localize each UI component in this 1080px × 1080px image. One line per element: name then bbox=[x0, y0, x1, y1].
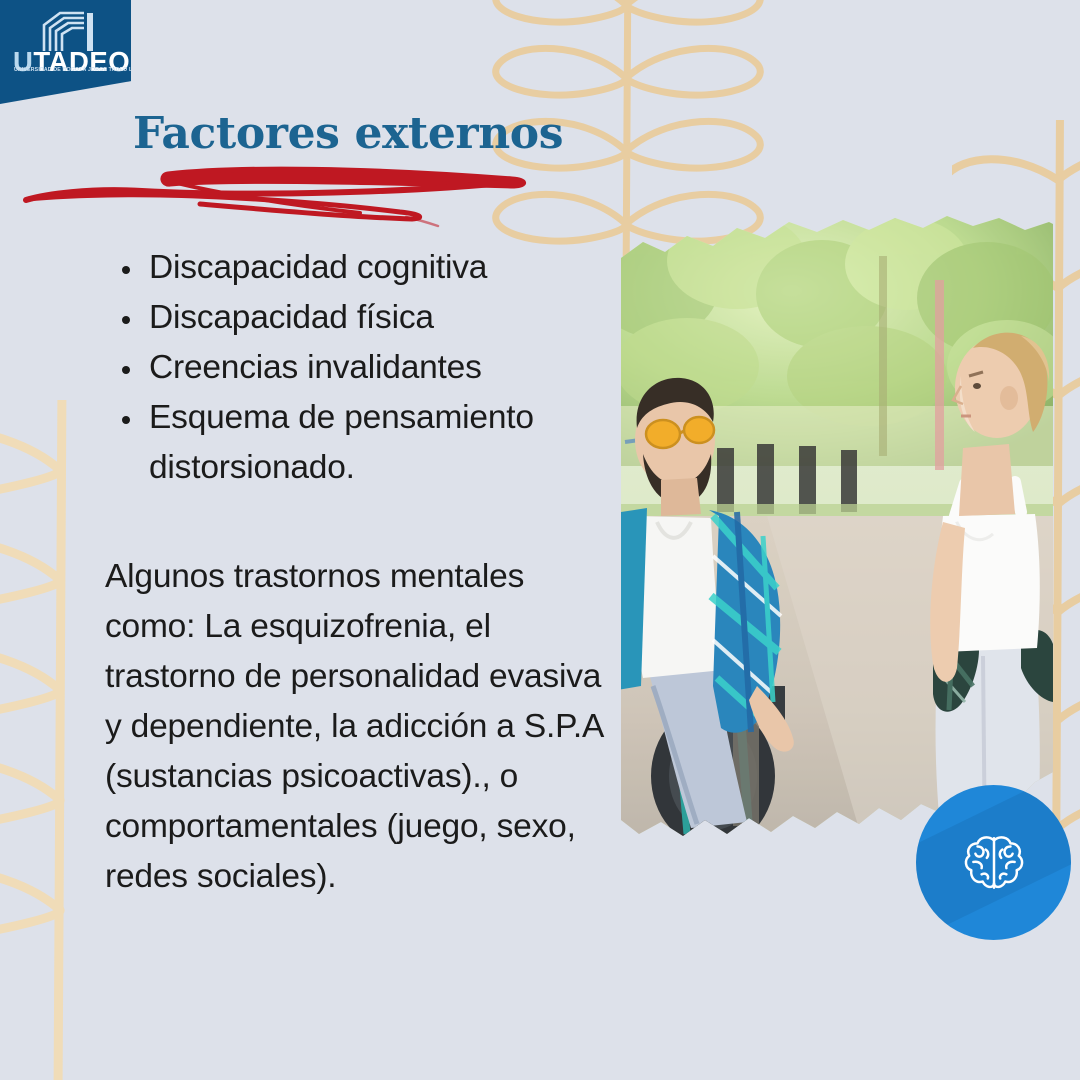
body-paragraph: Algunos trastornos mentales como: La esq… bbox=[105, 552, 617, 902]
page-title: Factores externos bbox=[133, 108, 563, 159]
utadeo-logo: UTADEO UNIVERSIDAD DE BOGOTÁ JORGE TADEO… bbox=[0, 0, 131, 104]
red-scribble-underline bbox=[20, 160, 560, 228]
utadeo-tagline: UNIVERSIDAD DE BOGOTÁ JORGE TADEO LOZANO bbox=[14, 67, 126, 73]
bullet-item: Discapacidad cognitiva bbox=[108, 243, 628, 293]
brain-badge bbox=[916, 785, 1071, 940]
bullet-list: Discapacidad cognitiva Discapacidad físi… bbox=[108, 243, 628, 493]
photo-couple-outdoors bbox=[617, 216, 1054, 856]
bullet-item: Esquema de pensamiento distorsionado. bbox=[108, 393, 628, 493]
bullet-item: Creencias invalidantes bbox=[108, 343, 628, 393]
bullet-item: Discapacidad física bbox=[108, 293, 628, 343]
slide-canvas: UTADEO UNIVERSIDAD DE BOGOTÁ JORGE TADEO… bbox=[0, 0, 1080, 1080]
brain-icon bbox=[961, 830, 1027, 896]
